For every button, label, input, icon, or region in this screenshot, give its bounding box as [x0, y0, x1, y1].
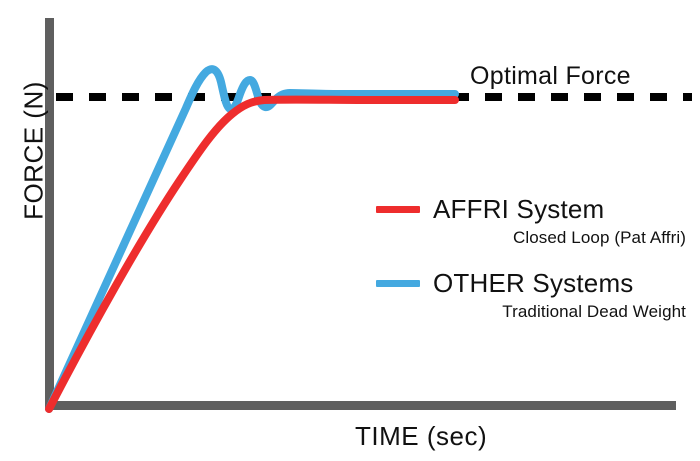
legend-label-affri-system: AFFRI System [433, 196, 604, 222]
legend-sublabel-other-systems: Traditional Dead Weight [376, 302, 688, 322]
force-vs-time-chart: FORCE (N) TIME (sec) Optimal Force AFFRI… [0, 0, 700, 461]
optimal-force-label: Optimal Force [470, 62, 631, 91]
x-axis-title: TIME (sec) [355, 421, 487, 452]
chart-legend: AFFRI System Closed Loop (Pat Affri) OTH… [376, 196, 688, 344]
y-axis-title: FORCE (N) [19, 61, 50, 241]
legend-item-affri-system: AFFRI System Closed Loop (Pat Affri) [376, 196, 688, 248]
legend-swatch-other-systems [376, 280, 420, 287]
legend-sublabel-affri-system: Closed Loop (Pat Affri) [376, 228, 688, 248]
x-axis-line [45, 401, 676, 410]
legend-label-other-systems: OTHER Systems [433, 270, 634, 296]
legend-item-other-systems: OTHER Systems Traditional Dead Weight [376, 270, 688, 322]
legend-swatch-affri-system [376, 206, 420, 213]
